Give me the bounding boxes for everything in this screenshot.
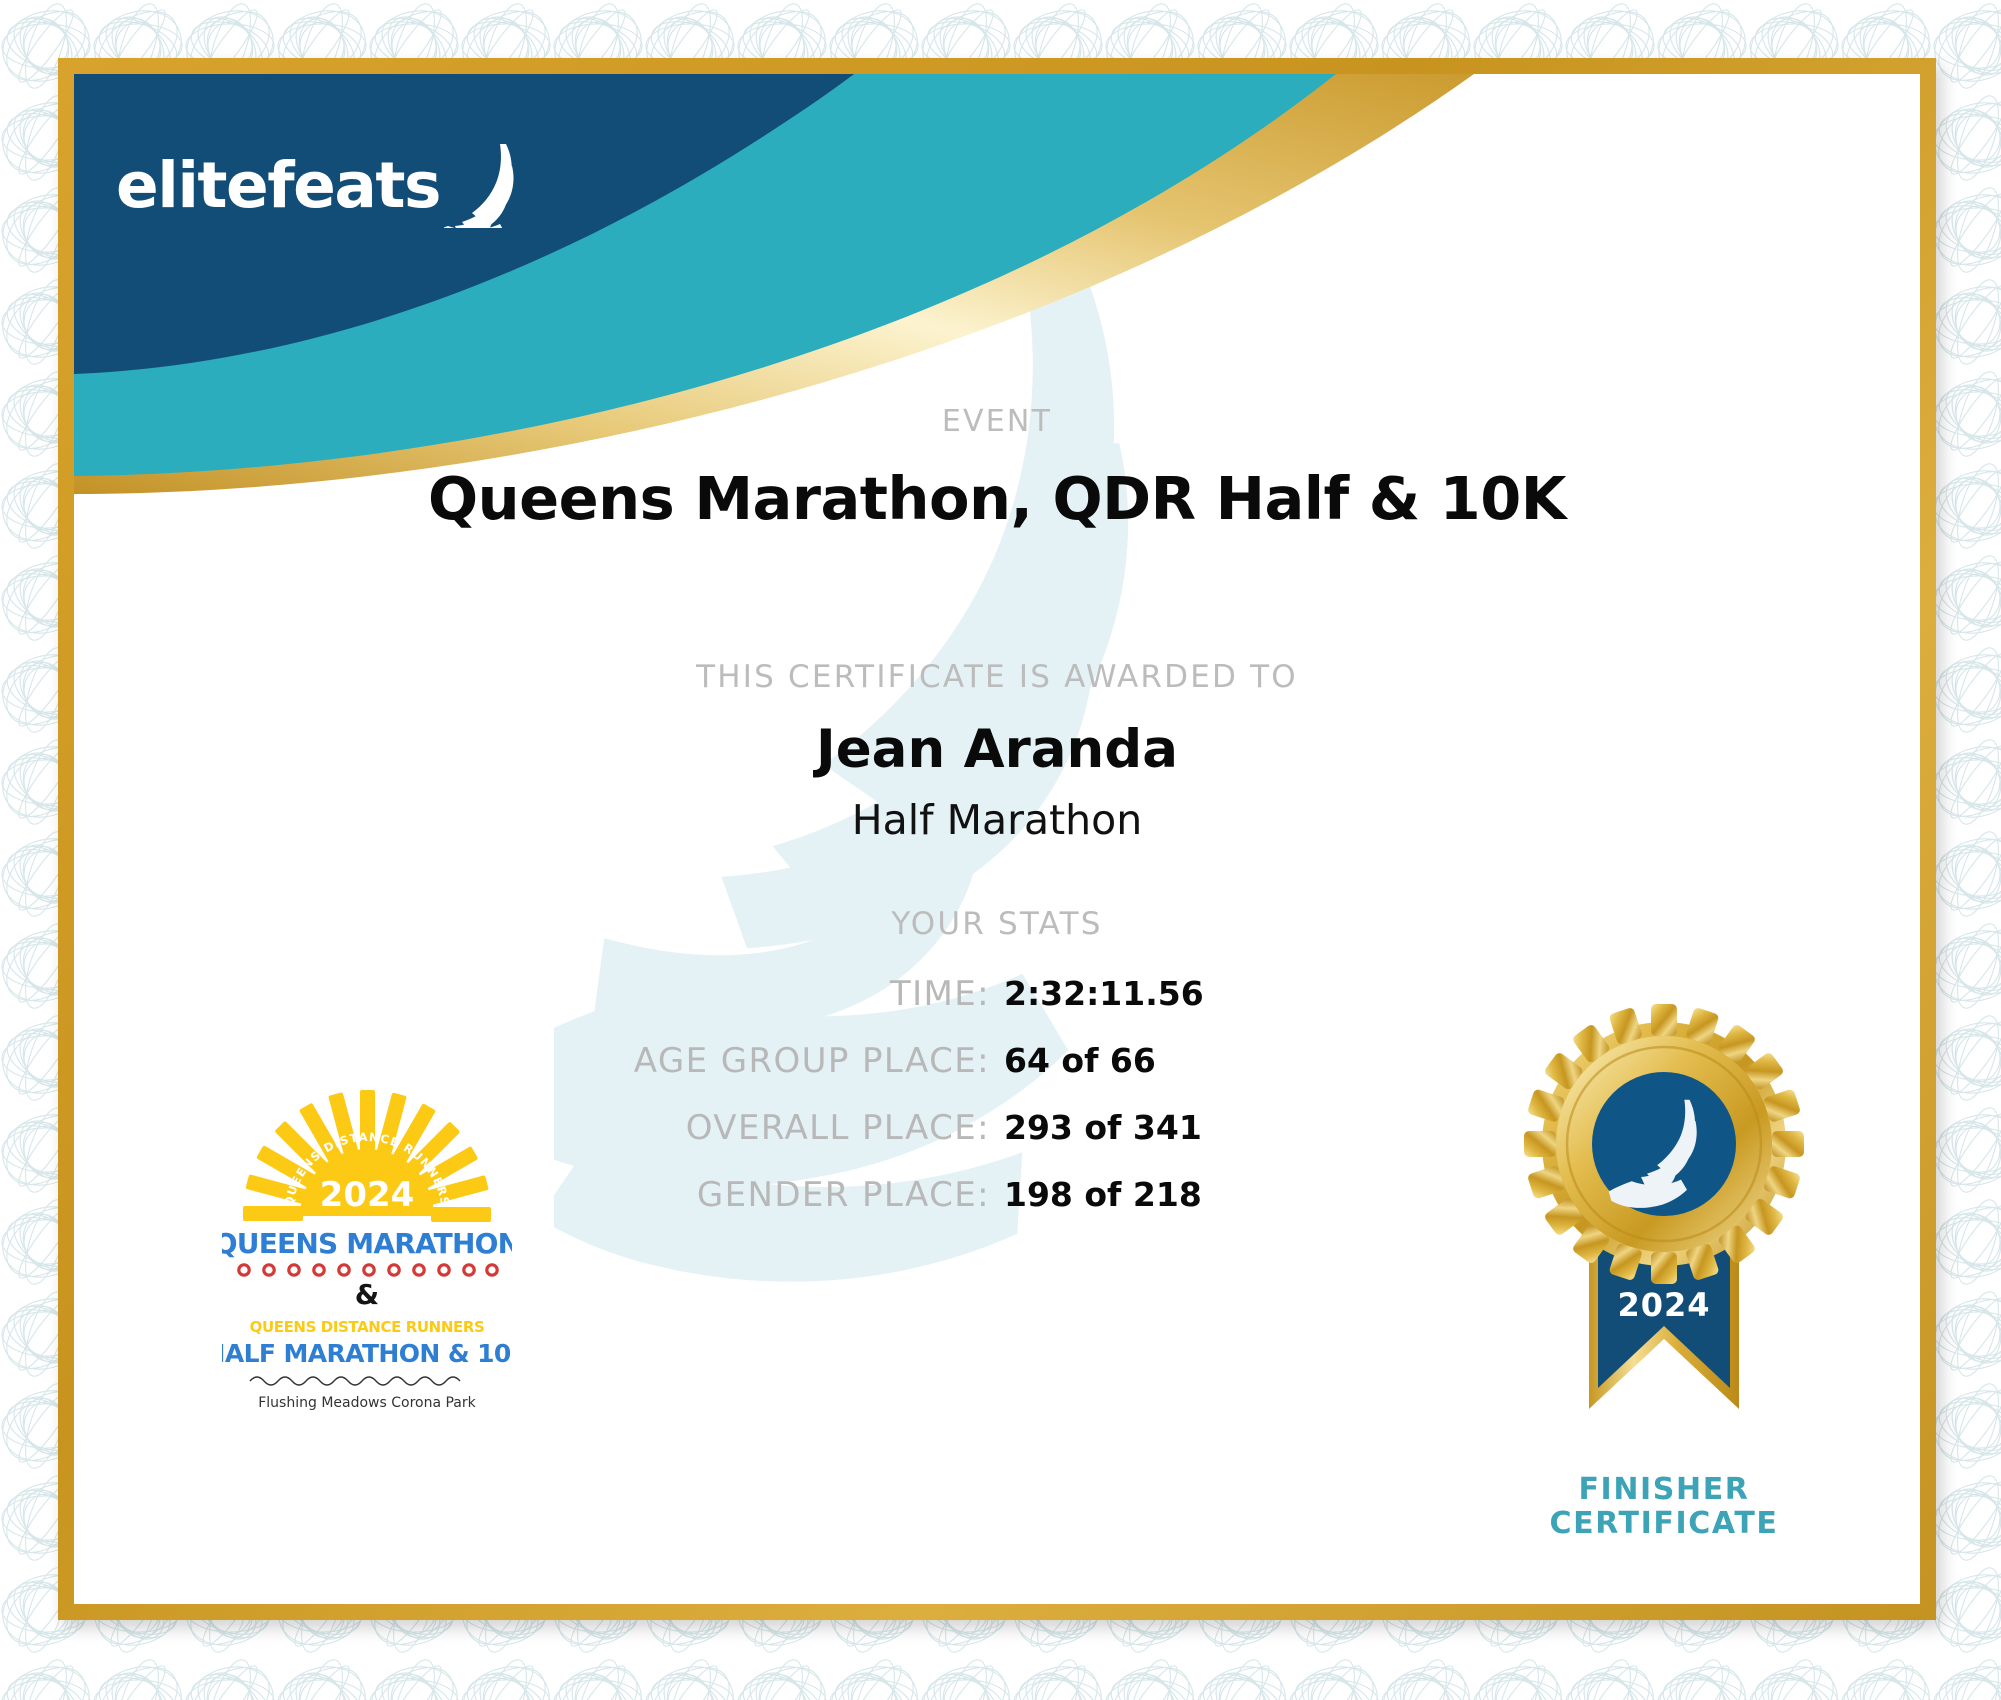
stat-value-age-group-place: 64 of 66 (1004, 1041, 1424, 1080)
stat-key-overall-place: OVERALL PLACE: (570, 1108, 990, 1148)
your-stats-label: YOUR STATS (74, 906, 1920, 942)
race-logo-venue: Flushing Meadows Corona Park (258, 1395, 476, 1411)
event-label: EVENT (74, 404, 1920, 439)
finisher-caption: FINISHER CERTIFICATE (1514, 1473, 1814, 1540)
stat-value-time: 2:32:11.56 (1004, 974, 1424, 1013)
race-logo-dot-row (239, 1265, 497, 1275)
race-logo-line3: HALF MARATHON & 10K (222, 1339, 512, 1368)
awarded-to-label: THIS CERTIFICATE IS AWARDED TO (74, 659, 1920, 695)
race-logo-line2: QUEENS DISTANCE RUNNERS (250, 1318, 485, 1336)
race-logo-ampersand: & (355, 1278, 379, 1311)
certificate-body: elitefeats EVENT Queens Marathon, QDR Ha… (74, 74, 1920, 1604)
recipient-division: Half Marathon (74, 796, 1920, 844)
finisher-medal-icon: 2024 (1514, 994, 1814, 1474)
event-title: Queens Marathon, QDR Half & 10K (74, 464, 1920, 533)
brand-name: elitefeats (116, 154, 440, 217)
race-logo-year: 2024 (320, 1175, 415, 1215)
winged-foot-icon (444, 142, 526, 228)
stat-key-age-group-place: AGE GROUP PLACE: (570, 1041, 990, 1081)
race-event-logo: QUEENS DISTANCE RUNNERS 2024 QUEENS MARA… (222, 1064, 512, 1424)
recipient-name: Jean Aranda (74, 719, 1920, 780)
brand-logo: elitefeats (116, 142, 526, 228)
race-logo-wave-divider (250, 1377, 460, 1385)
race-logo-line1: QUEENS MARATHON (222, 1227, 512, 1260)
stat-value-gender-place: 198 of 218 (1004, 1175, 1424, 1214)
finisher-caption-line1: FINISHER (1514, 1473, 1814, 1507)
certificate-page: elitefeats EVENT Queens Marathon, QDR Ha… (0, 0, 2001, 1700)
finisher-medal-block: 2024 (1514, 994, 1814, 1540)
finisher-caption-line2: CERTIFICATE (1514, 1507, 1814, 1541)
certificate-gold-frame: elitefeats EVENT Queens Marathon, QDR Ha… (58, 58, 1936, 1620)
stat-key-time: TIME: (570, 974, 990, 1014)
medal-year: 2024 (1617, 1286, 1710, 1324)
stat-value-overall-place: 293 of 341 (1004, 1108, 1424, 1147)
stat-key-gender-place: GENDER PLACE: (570, 1175, 990, 1215)
